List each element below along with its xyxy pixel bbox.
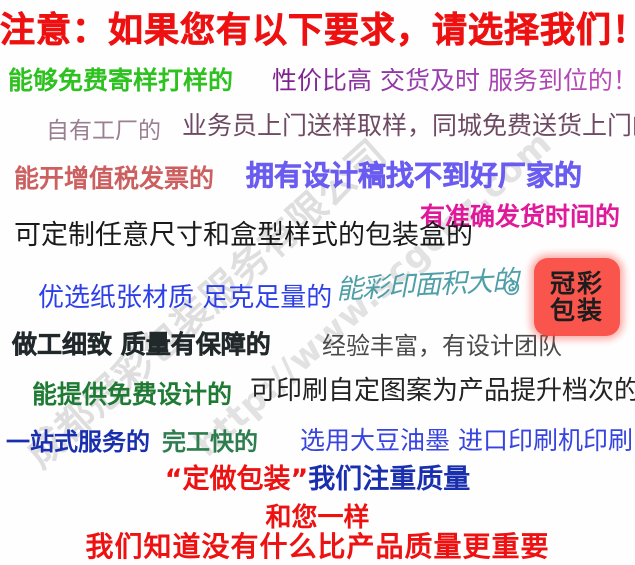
line-has-design-draft: 拥有设计稿找不到好厂家的 (246, 162, 582, 190)
swirl-icon (503, 279, 520, 296)
closing-quoted: “定做包装” (165, 464, 309, 495)
line-fast-completion: 完工快的 (162, 430, 258, 454)
line-salesman-visit: 业务员上门送样取样，同城免费送货上门的 (182, 113, 635, 138)
line-free-sample: 能够免费寄样打样的 (8, 68, 233, 93)
line-own-factory: 自有工厂的 (46, 120, 161, 143)
closing-line-3: 我们知道没有什么比产品质量更重要 (0, 533, 635, 561)
line-quality-paper: 优选纸张材质 足克足量的 (38, 285, 332, 311)
line-custom-pattern: 可印刷自定图案为产品提升档次的 (250, 378, 635, 404)
seal-line-1: 冠彩 (550, 270, 604, 297)
company-seal: 冠彩 包装 (534, 258, 620, 336)
closing-line-1: “定做包装”我们注重质量 (0, 466, 635, 493)
seal-text: 冠彩 包装 (534, 258, 620, 336)
closing-line-2: 和您一样 (0, 505, 635, 531)
line-custom-size-box: 可定制任意尺寸和盒型样式的包装盒的 (14, 222, 473, 249)
line-large-area-print: 能彩印面积大的 (335, 267, 518, 303)
line-free-design: 能提供免费设计的 (32, 382, 232, 407)
line-value-delivery: 性价比高 交货及时 服务到位的！ (272, 68, 635, 93)
line-fine-workmanship: 做工细致 质量有保障的 (12, 332, 271, 357)
seal-line-2: 包装 (550, 297, 604, 324)
closing-emphasis: 我们注重质量 (308, 464, 470, 495)
line-one-stop-service: 一站式服务的 (6, 430, 150, 454)
line-experienced-team: 经验丰富，有设计团队 (322, 334, 562, 358)
line-vat-invoice: 能开增值税发票的 (14, 166, 214, 191)
line-soy-ink-import: 选用大豆油墨 进口印刷机印刷的 (300, 428, 635, 453)
promo-banner: 成都冠彩包装服务有限公司 http://www.scgcbz.com 注意：如果… (0, 0, 635, 565)
headline: 注意：如果您有以下要求，请选择我们！ (0, 14, 635, 49)
